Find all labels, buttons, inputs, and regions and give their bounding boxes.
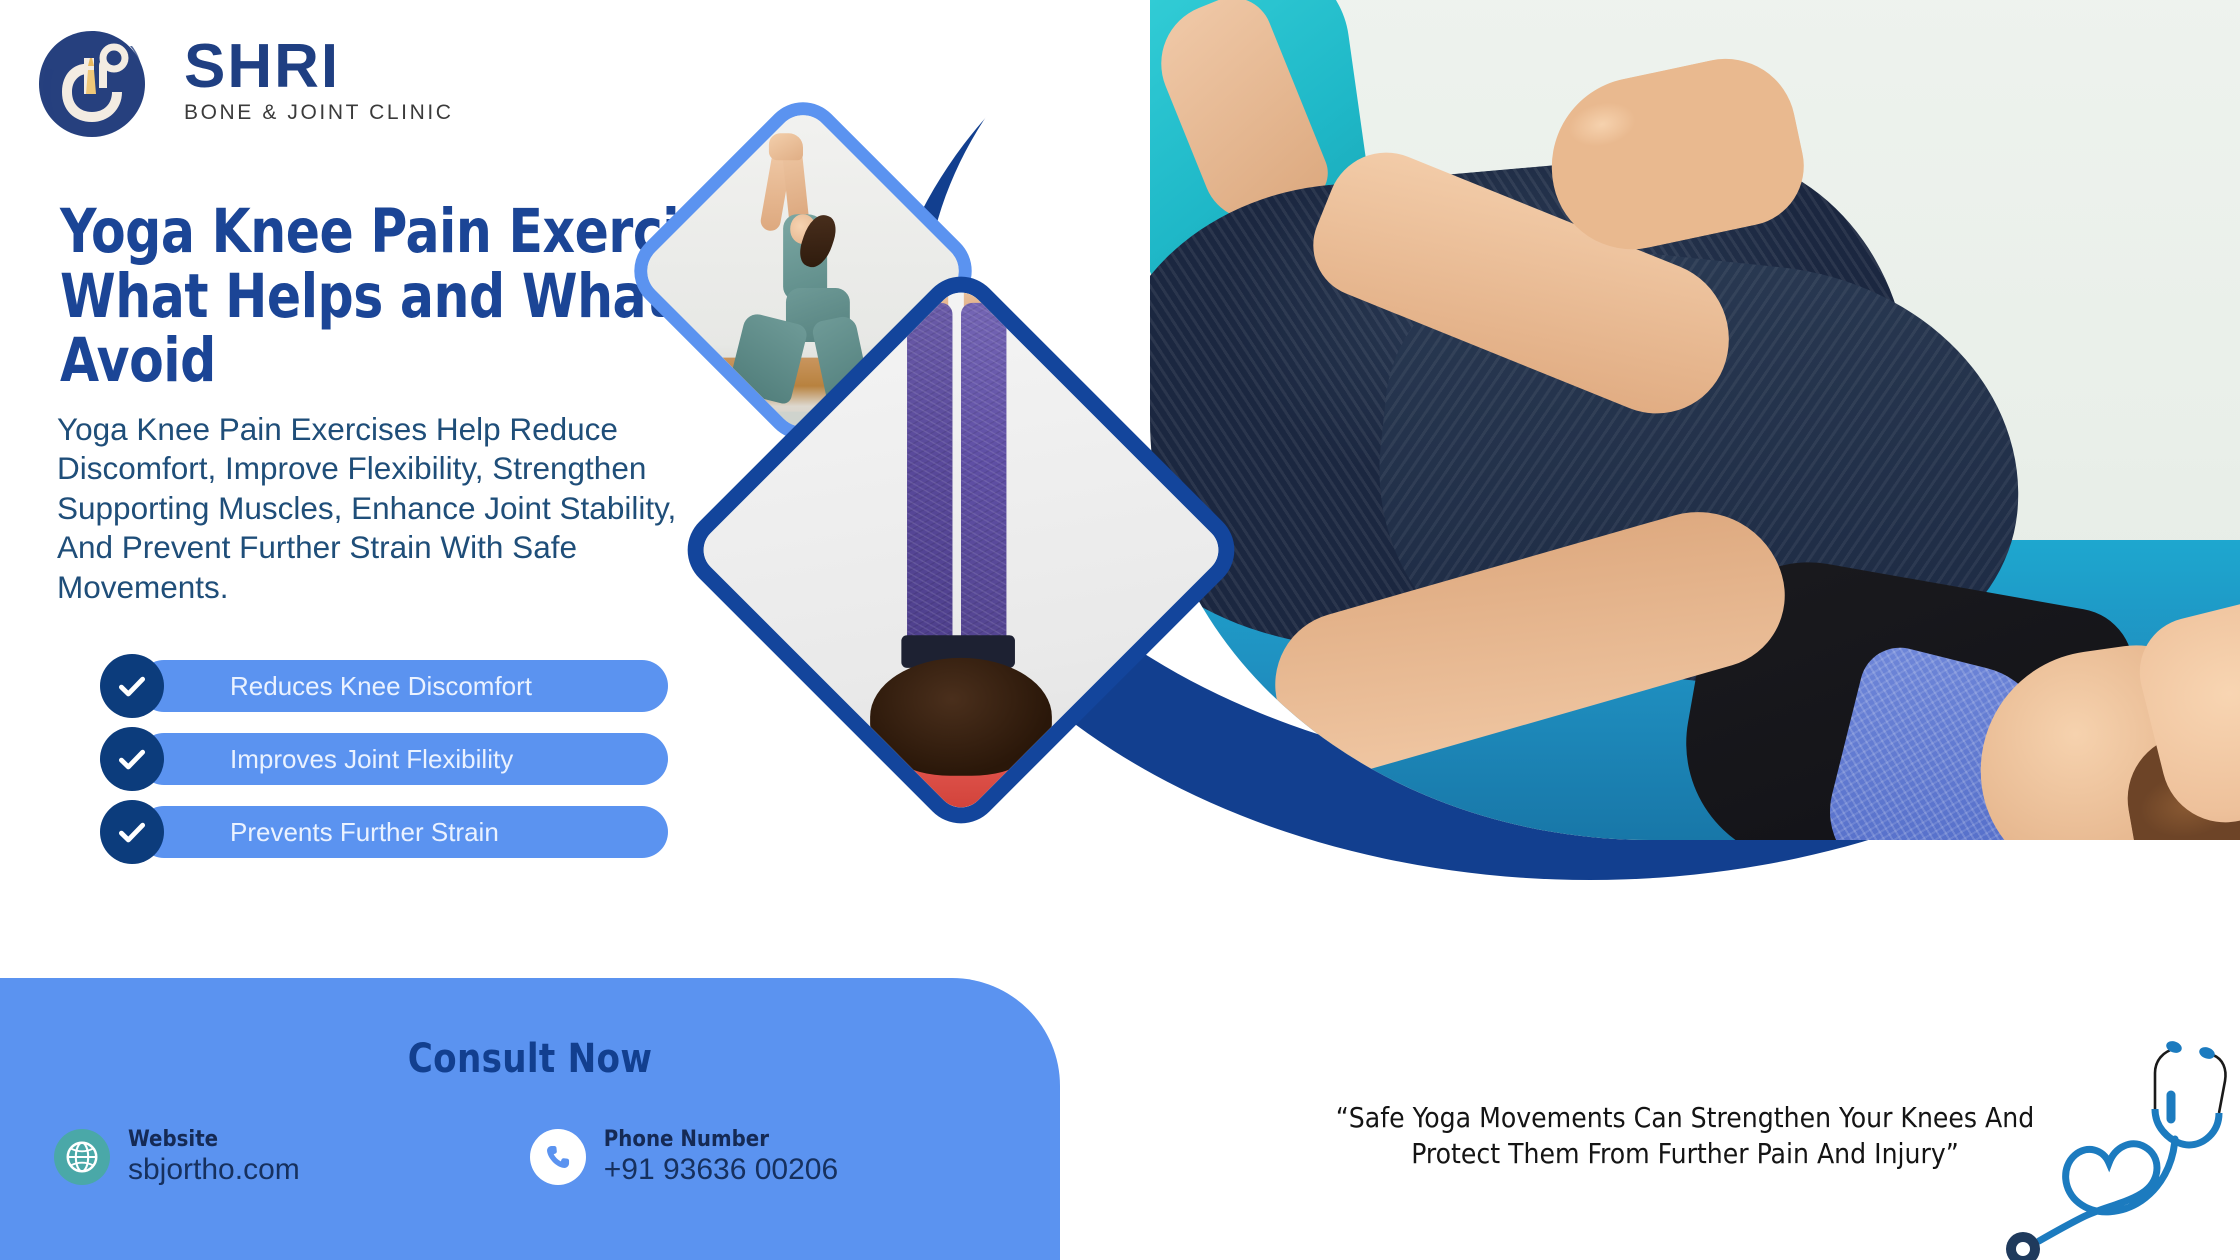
contact-value[interactable]: sbjortho.com — [128, 1154, 300, 1186]
hair — [870, 657, 1052, 775]
diamond-frame-navy — [671, 260, 1251, 840]
contact-text: Phone Number +91 93636 00206 — [604, 1128, 838, 1186]
logo-brand-name: SHRI — [184, 38, 454, 97]
leg-right — [961, 303, 1007, 657]
legging-texture-2 — [961, 303, 1007, 657]
quote-line-2: Protect Them From Further Pain And Injur… — [1290, 1136, 2080, 1172]
brand-logo[interactable]: SHRI BONE & JOINT CLINIC — [36, 26, 516, 141]
hands-overhead — [769, 134, 803, 161]
cta-title: Consult Now — [27, 1036, 1034, 1082]
logo-wordmark: SHRI BONE & JOINT CLINIC — [184, 38, 454, 125]
globe-icon — [54, 1129, 110, 1185]
contact-label: Phone Number — [604, 1128, 838, 1152]
contact-label: Website — [128, 1128, 300, 1152]
contact-text: Website sbjortho.com — [128, 1128, 300, 1186]
contact-footer: Consult Now Website sbjortho.com — [0, 978, 1060, 1260]
legs-up-wall-illustration — [693, 282, 1230, 819]
benefit-pill-bar: Prevents Further Strain — [138, 806, 668, 858]
intro-paragraph: Yoga Knee Pain Exercises Help Reduce Dis… — [57, 410, 717, 607]
leg-left — [907, 303, 953, 657]
contact-website[interactable]: Website sbjortho.com — [54, 1128, 300, 1186]
hero-photo-knee-hug-pose — [1150, 0, 2240, 840]
pull-quote: “Safe Yoga Movements Can Strengthen Your… — [1290, 1100, 2080, 1172]
diamond-photo-legs-up-wall — [756, 345, 1166, 755]
contact-value[interactable]: +91 93636 00206 — [604, 1154, 838, 1186]
quote-line-1: “Safe Yoga Movements Can Strengthen Your… — [1290, 1100, 2080, 1136]
benefit-label: Prevents Further Strain — [230, 817, 499, 848]
benefit-label: Improves Joint Flexibility — [230, 744, 513, 775]
benefit-pill-bar: Reduces Knee Discomfort — [138, 660, 668, 712]
contact-phone[interactable]: Phone Number +91 93636 00206 — [530, 1128, 838, 1186]
hero-photo-frame — [1150, 0, 2240, 840]
benefit-pill-bar: Improves Joint Flexibility — [138, 733, 668, 785]
poster-canvas: SHRI BONE & JOINT CLINIC Yoga Knee Pain … — [0, 0, 2240, 1260]
logo-tagline: BONE & JOINT CLINIC — [184, 101, 454, 125]
legging-texture — [907, 303, 953, 657]
check-icon — [100, 654, 164, 718]
benefit-label: Reduces Knee Discomfort — [230, 671, 532, 702]
check-icon — [100, 800, 164, 864]
check-icon — [100, 727, 164, 791]
brush-circle-tamil-emblem-icon — [36, 28, 148, 140]
phone-icon — [530, 1129, 586, 1185]
heart-stethoscope-icon — [1975, 1035, 2240, 1260]
contact-row: Website sbjortho.com Phone Number +91 93… — [54, 1128, 1020, 1186]
